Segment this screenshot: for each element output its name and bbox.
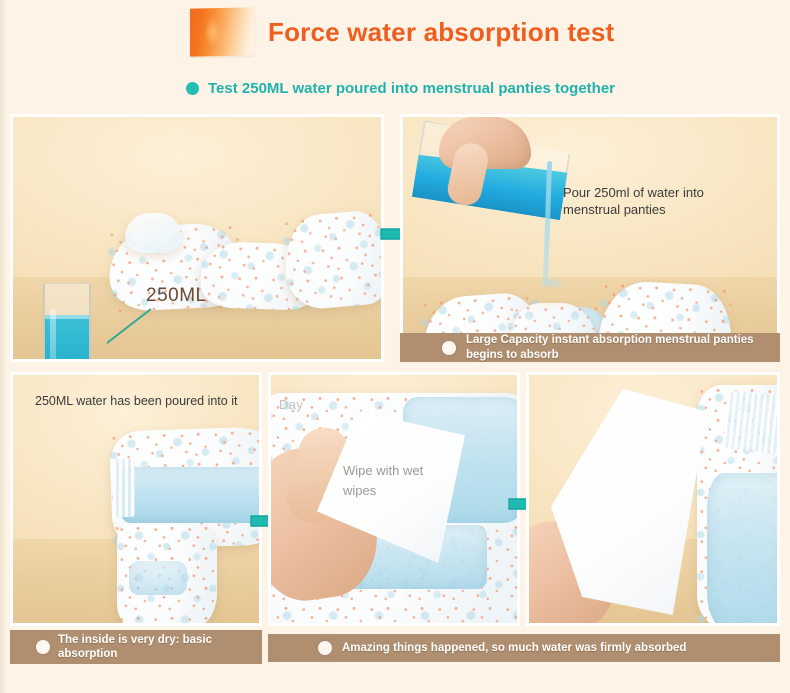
teal-leader-line-icon [105, 307, 153, 345]
teal-dot-bullet-icon [186, 82, 199, 95]
header: Force water absorption test [0, 0, 790, 72]
caption-panels-4-5: Amazing things happened, so much water w… [268, 634, 780, 662]
panel-3-label: 250ML water has been poured into it [35, 393, 237, 409]
caption-panel-3: The inside is very dry: basic absorption [10, 630, 262, 664]
menstrual-panties-spread [281, 209, 384, 312]
left-edge-strip [0, 0, 6, 693]
white-dot-bullet-icon [36, 640, 50, 654]
glass-beaker [43, 283, 91, 362]
panel-4-label: Wipe with wet wipes [343, 461, 423, 501]
caption-text: The inside is very dry: basic absorption [58, 633, 252, 662]
blue-absorbent-core [121, 467, 262, 523]
callout-250ml: 250ML [146, 285, 207, 307]
blue-absorbent-core [707, 473, 780, 626]
subtitle: Test 250ML water poured into menstrual p… [186, 80, 615, 97]
subtitle-label: Test 250ML water poured into menstrual p… [208, 80, 615, 97]
caption-text: Large Capacity instant absorption menstr… [466, 333, 770, 362]
panel-3-inside-dry: 250ML water has been poured into it [10, 372, 262, 626]
panel-1-beaker-and-panties: 250ML [10, 114, 384, 362]
panel-5-dry-wipe-result [526, 372, 780, 626]
panel-2-pouring-water: Pour 250ml of water into menstrual panti… [400, 114, 780, 362]
panties-ruffle-edge [113, 459, 135, 517]
panties-fold-highlight [125, 213, 181, 253]
watermark-day: Day [279, 397, 303, 412]
panties-ruffle-edge [722, 390, 780, 454]
blue-core-lower [129, 561, 187, 595]
panel-4-wipe-with-wet-wipes: Day Wipe with wet wipes [268, 372, 520, 626]
white-dot-bullet-icon [442, 341, 456, 355]
white-dot-bullet-icon [318, 641, 332, 655]
caption-panel-2: Large Capacity instant absorption menstr… [400, 333, 780, 362]
panel-2-label: Pour 250ml of water into menstrual panti… [563, 185, 704, 219]
orange-gradient-block-icon [190, 7, 254, 56]
glass-glint [50, 309, 56, 362]
water-splash [539, 277, 565, 289]
caption-text: Amazing things happened, so much water w… [342, 641, 686, 655]
page-title: Force water absorption test [268, 17, 614, 48]
